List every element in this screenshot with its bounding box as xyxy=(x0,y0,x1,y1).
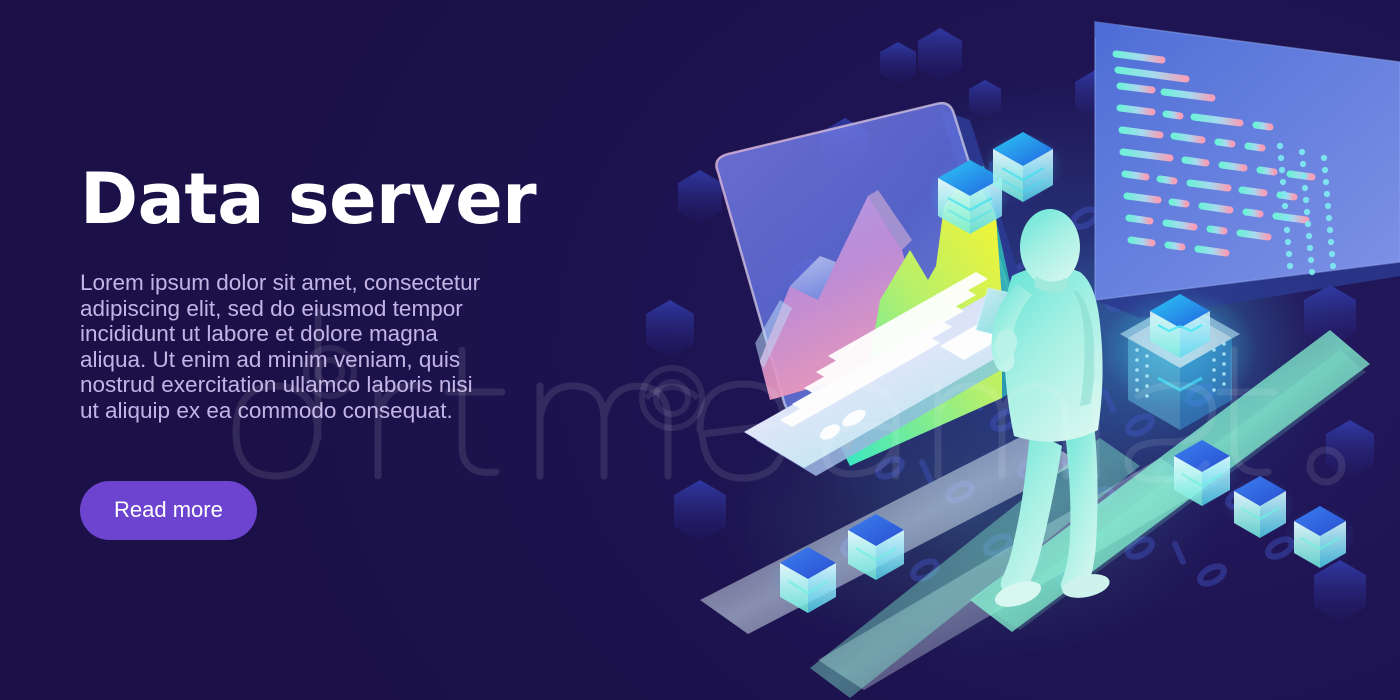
hero-banner: Data server Lorem ipsum dolor sit amet, … xyxy=(0,0,1400,700)
hero-body-text: Lorem ipsum dolor sit amet, consectetur … xyxy=(80,270,490,423)
code-dashboard-screen xyxy=(1095,22,1400,318)
hero-copy: Data server Lorem ipsum dolor sit amet, … xyxy=(80,160,550,540)
data-cube xyxy=(1284,506,1356,568)
read-more-button[interactable]: Read more xyxy=(80,481,257,540)
illustration xyxy=(640,0,1400,700)
page-title: Data server xyxy=(80,160,550,238)
